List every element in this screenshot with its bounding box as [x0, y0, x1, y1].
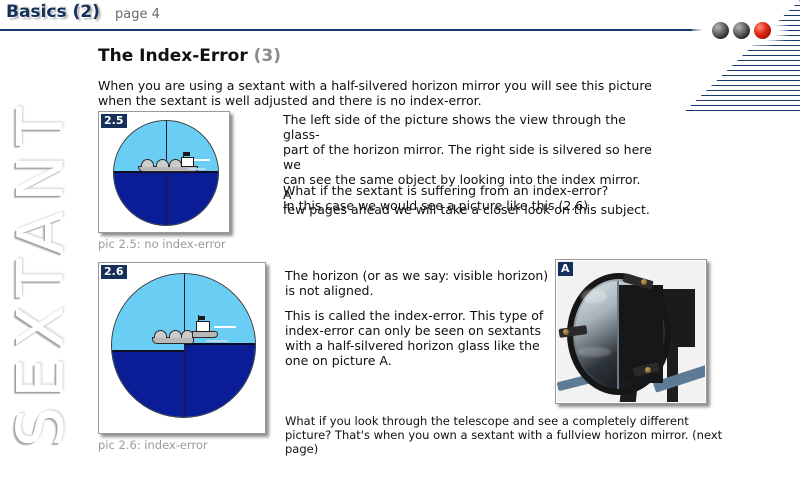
figure-2-5-badge: 2.5	[101, 114, 127, 128]
bottom-paragraph: What if you look through the telescope a…	[285, 414, 725, 456]
ship-silhouette	[152, 326, 222, 344]
sea-region-right	[184, 344, 256, 417]
figure-2-5-caption: pic 2.5: no index-error	[98, 237, 226, 251]
ship-hull-fore	[192, 331, 218, 338]
ship-dome-1	[154, 330, 167, 338]
figure-2-5: 2.5	[98, 111, 230, 233]
header-title: Basics (2)	[6, 2, 100, 22]
figure-2-6-badge: 2.6	[101, 265, 127, 279]
adjust-screw-bottom	[645, 367, 651, 373]
scope-vertical-crosshair	[166, 121, 167, 225]
main-content: The Index-Error (3) When you are using a…	[80, 31, 800, 500]
sidebar-watermark-text: SEXTANT	[4, 31, 77, 500]
sidebar-watermark: SEXTANT	[0, 31, 80, 500]
mirror-highlight-2	[577, 347, 611, 357]
page-header: Basics (2) page 4	[0, 0, 800, 31]
page-title: The Index-Error (3)	[98, 46, 281, 66]
figure-2-6-caption: pic 2.6: index-error	[98, 438, 208, 452]
adjust-screw-left	[563, 329, 569, 335]
ship-wake-2	[206, 340, 228, 342]
ship-silhouette	[138, 154, 200, 172]
mirror-highlight-1	[581, 289, 607, 303]
figure-2-6: 2.6	[98, 262, 266, 434]
mirror-half-divider	[617, 281, 619, 389]
ship-hull	[152, 337, 194, 344]
figure-2-6-scope-view	[111, 273, 256, 418]
mid-paragraph-1: The horizon (or as we say: visible horiz…	[285, 268, 585, 298]
ship-wake-2	[188, 168, 206, 170]
horizon-line-left	[112, 350, 184, 352]
ship-dome-2	[156, 159, 169, 167]
intro-paragraph: When you are using a sextant with a half…	[98, 78, 658, 108]
figure-2-5-scope-view	[113, 120, 219, 226]
mid-paragraph-2: This is called the index-error. This typ…	[285, 308, 585, 368]
ship-wake-1	[214, 326, 236, 328]
scope-vertical-crosshair	[184, 274, 185, 417]
photo-a: A	[555, 259, 707, 404]
ship-flag	[184, 152, 190, 156]
ship-dome-1	[141, 159, 154, 167]
page-title-number: (3)	[254, 46, 281, 66]
adjust-screw-top	[641, 279, 647, 285]
ship-wake-1	[194, 159, 210, 161]
photo-a-badge: A	[558, 262, 573, 276]
header-page-number: page 4	[115, 7, 160, 22]
ship-bridge	[181, 157, 194, 167]
sea-region-left	[112, 351, 184, 417]
ship-flag	[199, 316, 205, 320]
ship-bridge	[196, 321, 210, 332]
right-paragraph-2: What if the sextant is suffering from an…	[283, 183, 653, 213]
photo-a-image	[557, 261, 705, 402]
page-title-text: The Index-Error	[98, 46, 254, 66]
